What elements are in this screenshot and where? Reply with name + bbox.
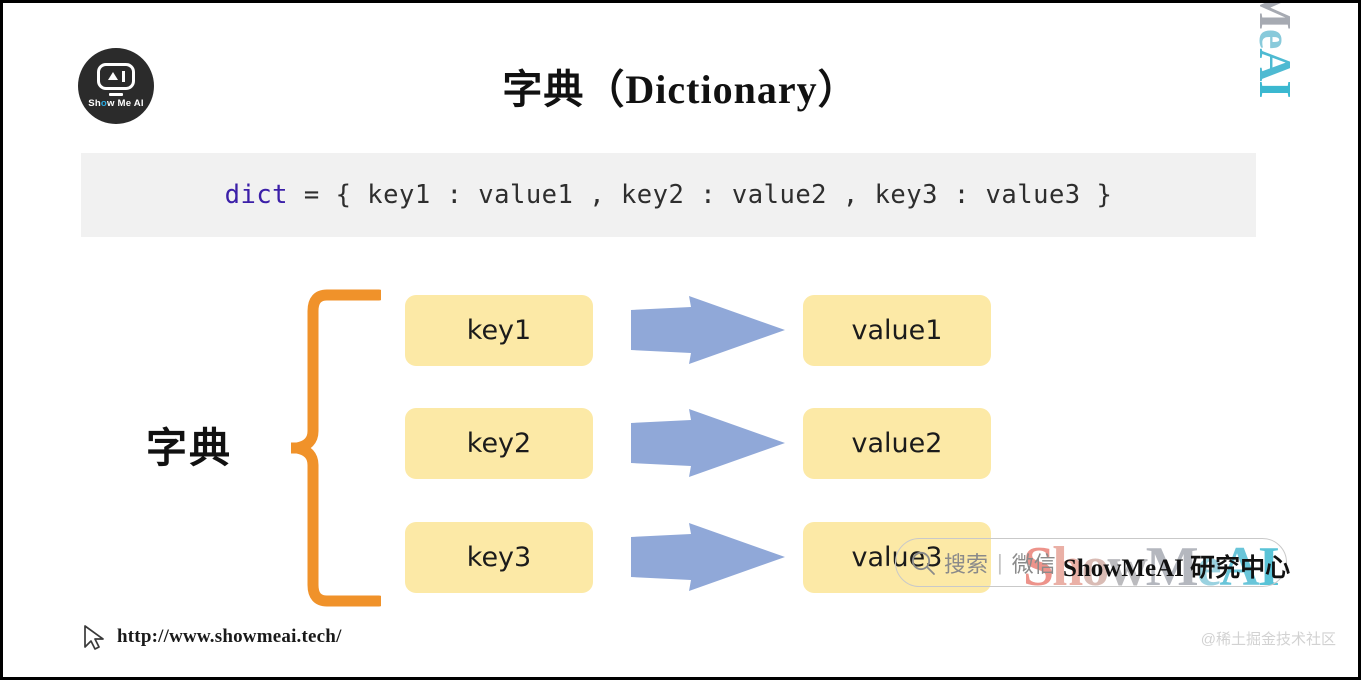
code-line: dict = { key1 : value1 , key2 : value2 ,…	[81, 180, 1256, 210]
mapping-arrow-icon	[629, 407, 787, 479]
mapping-arrow-icon	[629, 521, 787, 593]
key-box: key2	[405, 408, 593, 479]
value-box: value2	[803, 408, 991, 479]
search-brand-label: ShowMeAI 研究中心	[1063, 548, 1290, 584]
search-channel: 微信	[1012, 547, 1056, 579]
code-keyword: dict	[225, 180, 288, 210]
footer-credit: @稀土掘金技术社区	[1201, 628, 1336, 649]
search-label: 搜索	[944, 547, 988, 579]
wm-letter-m: M	[1250, 0, 1301, 29]
search-icon	[910, 550, 936, 576]
code-rest: = { key1 : value1 , key2 : value2 , key3…	[288, 180, 1112, 210]
mapping-arrow-icon	[629, 294, 787, 366]
wm-letter-a: A	[1250, 48, 1301, 80]
page-title: 字典（Dictionary）	[3, 57, 1358, 115]
dictionary-group-label: 字典	[146, 414, 232, 474]
cursor-arrow-icon	[81, 623, 107, 651]
orange-brace-icon	[291, 289, 381, 607]
wm-letter-i: I	[1250, 81, 1301, 98]
search-separator: |	[997, 550, 1003, 576]
wm-letter-e: e	[1250, 29, 1301, 48]
footer-link[interactable]: http://www.showmeai.tech/	[81, 623, 342, 651]
key-box: key1	[405, 295, 593, 366]
code-strip: dict = { key1 : value1 , key2 : value2 ,…	[81, 153, 1256, 237]
side-watermark: ShowMeAI	[1258, 0, 1302, 133]
value-box: value1	[803, 295, 991, 366]
slide-canvas: Show Me AI 字典（Dictionary） dict = { key1 …	[0, 0, 1361, 680]
footer-url[interactable]: http://www.showmeai.tech/	[117, 626, 342, 648]
key-box: key3	[405, 522, 593, 593]
